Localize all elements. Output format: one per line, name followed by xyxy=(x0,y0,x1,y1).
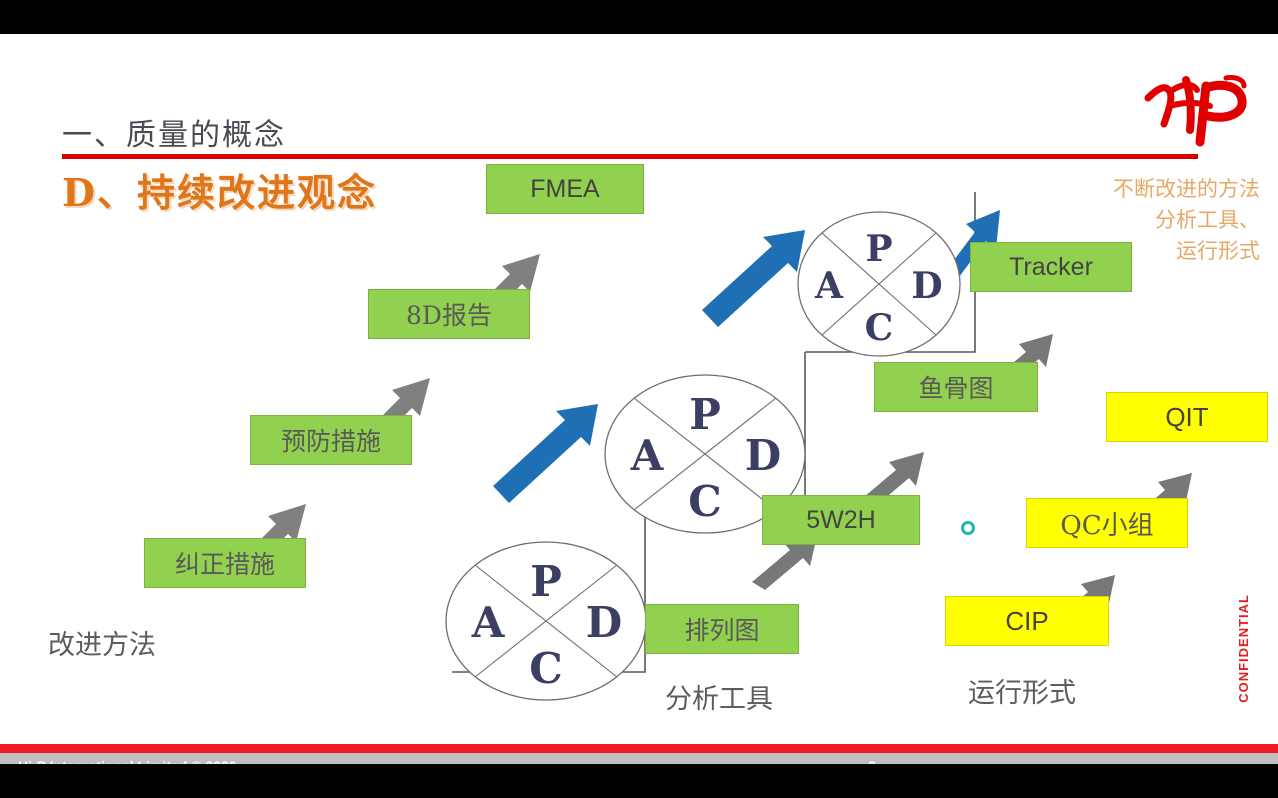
caption-improvement-methods: 改进方法 xyxy=(48,623,156,662)
slide-viewer: 一、质量的概念 D、持续改进观念 不断改进的方法 分析工具、 运行形式 xyxy=(0,0,1278,798)
caption-analysis-tools: 分析工具 xyxy=(665,677,773,716)
footer-copyright: Hi-P International Limited © 2020 xyxy=(18,758,237,764)
pdca-letter-top: P xyxy=(530,557,562,606)
pdca-cycle-lower: P D C A xyxy=(443,539,649,704)
teal-ring-marker xyxy=(961,521,975,535)
tool-box-fishbone-diagram[interactable]: 鱼骨图 xyxy=(874,362,1038,412)
pdca-letter-right: D xyxy=(911,265,942,307)
hi-p-logo xyxy=(1140,72,1260,150)
footer-page-number: 8 xyxy=(868,758,876,764)
letterbox-top xyxy=(0,0,1278,34)
ladder-box-8d-report[interactable]: 8D报告 xyxy=(368,289,530,339)
annotation-line-2: 分析工具、 xyxy=(1030,205,1260,236)
confidential-watermark: CONFIDENTIAL xyxy=(1236,594,1251,703)
ops-box-qc-team[interactable]: QC小组 xyxy=(1026,498,1188,548)
pdca-letter-right: D xyxy=(586,598,622,647)
tool-box-tracker[interactable]: Tracker xyxy=(970,242,1132,292)
slide-canvas: 一、质量的概念 D、持续改进观念 不断改进的方法 分析工具、 运行形式 xyxy=(0,34,1278,764)
caption-operation-forms: 运行形式 xyxy=(968,671,1076,710)
pdca-letter-top: P xyxy=(689,390,721,439)
letterbox-bottom xyxy=(0,764,1278,798)
section-subtitle: D、持续改进观念 xyxy=(62,162,377,217)
pdca-letter-left: A xyxy=(814,265,844,307)
title-divider xyxy=(62,154,1198,159)
tool-box-pareto-chart[interactable]: 排列图 xyxy=(645,604,799,654)
ladder-box-preventive-action[interactable]: 预防措施 xyxy=(250,415,412,465)
pdca-letter-bottom: C xyxy=(529,644,562,693)
pdca-letter-top: P xyxy=(865,228,892,270)
pdca-letter-bottom: C xyxy=(688,477,721,526)
pdca-cycle-upper: P D C A xyxy=(795,209,963,359)
ladder-box-fmea[interactable]: FMEA xyxy=(486,164,644,214)
pdca-letter-left: A xyxy=(630,431,665,480)
ops-box-qit[interactable]: QIT xyxy=(1106,392,1268,442)
ops-box-cip[interactable]: CIP xyxy=(945,596,1109,646)
pdca-letter-bottom: C xyxy=(865,307,894,349)
annotation-line-1: 不断改进的方法 xyxy=(1030,174,1260,205)
footer-accent-bar xyxy=(0,744,1278,753)
pdca-letter-right: D xyxy=(745,431,781,480)
page-title: 一、质量的概念 xyxy=(62,110,286,154)
pdca-letter-left: A xyxy=(471,598,506,647)
ladder-box-corrective-action[interactable]: 纠正措施 xyxy=(144,538,306,588)
tool-box-5w2h[interactable]: 5W2H xyxy=(762,495,920,545)
